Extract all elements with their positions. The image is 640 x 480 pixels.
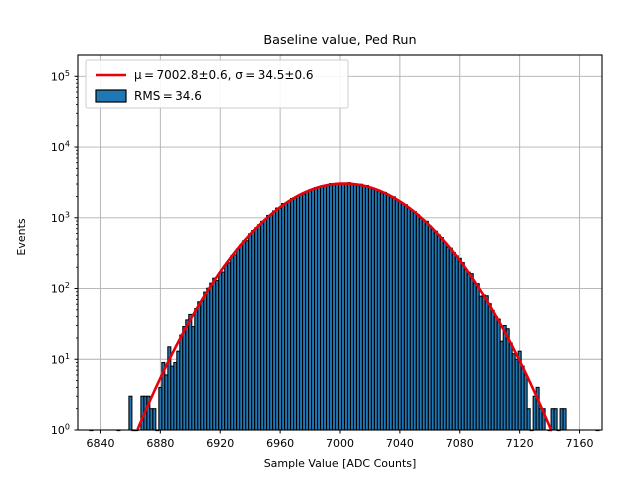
legend-label-rms: RMS = 34.6 [134,89,202,103]
x-tick-label: 7080 [446,437,474,450]
x-tick-label: 7000 [326,437,354,450]
chart-title: Baseline value, Ped Run [263,33,416,48]
histogram-bar [129,396,132,430]
x-tick-label: 7040 [386,437,414,450]
histogram-bar [554,409,557,430]
chart-canvas: Baseline value, Ped Run 6840688069206960… [0,0,640,480]
x-axis-label: Sample Value [ADC Counts] [264,457,417,470]
x-tick-label: 7120 [506,437,534,450]
histogram-bar [563,409,566,430]
x-tick-label: 6880 [146,437,174,450]
histogram-bar [153,409,156,430]
legend-patch-swatch [96,90,126,102]
chart-legend: μ = 7002.8±0.6, σ = 34.5±0.6RMS = 34.6 [86,60,348,108]
x-tick-label: 7160 [566,437,594,450]
y-axis-label: Events [15,218,28,256]
x-tick-label: 6920 [206,437,234,450]
x-tick-label: 6840 [86,437,114,450]
legend-label-fit: μ = 7002.8±0.6, σ = 34.5±0.6 [134,68,314,82]
histogram-bar [527,409,530,430]
x-tick-label: 6960 [266,437,294,450]
chart-figure: Baseline value, Ped Run 6840688069206960… [0,0,640,480]
